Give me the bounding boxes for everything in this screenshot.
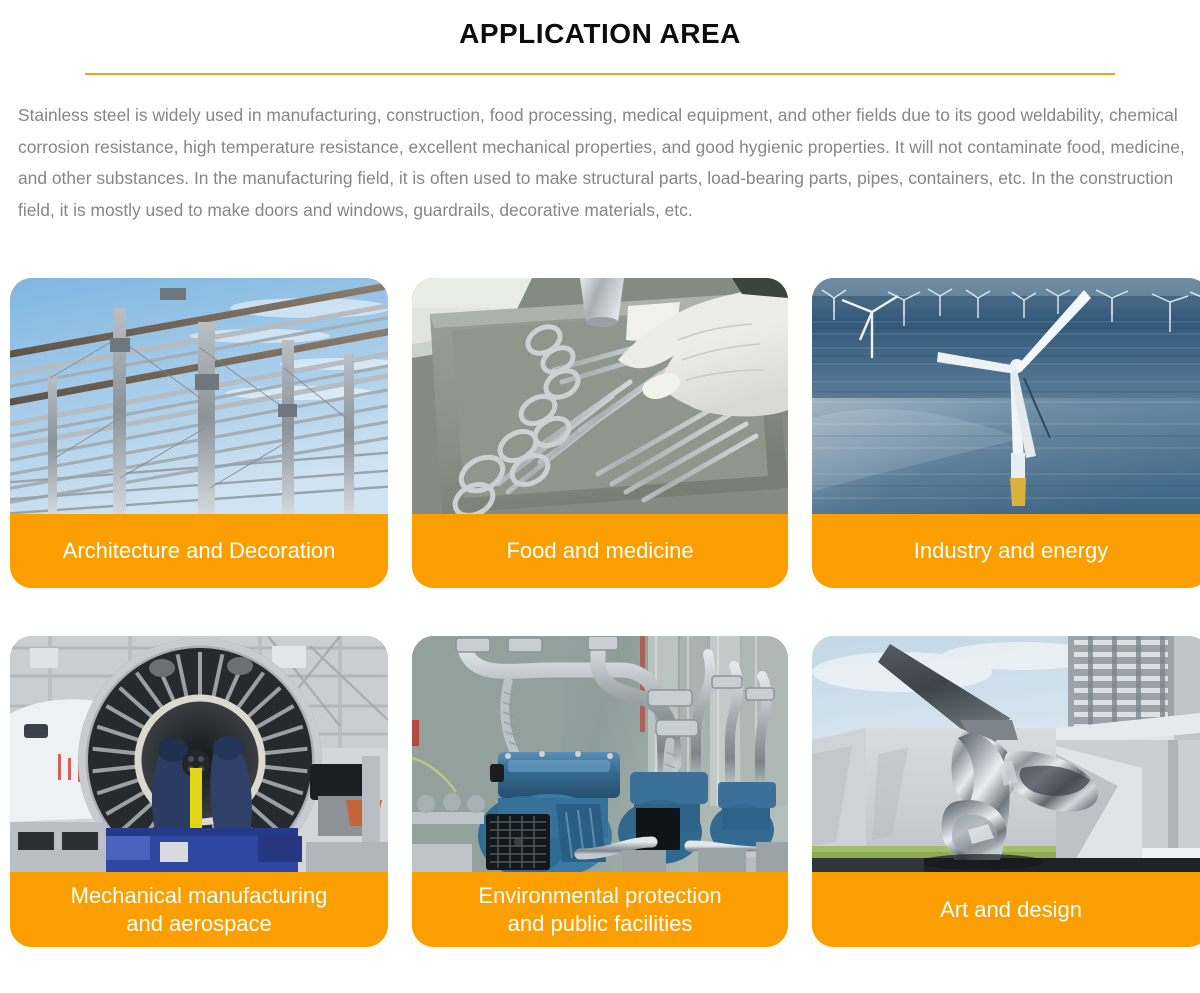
card-caption: Environmental protection and public faci… <box>412 872 788 947</box>
page-title: APPLICATION AREA <box>0 18 1200 50</box>
card-caption: Industry and energy <box>812 514 1200 588</box>
application-area-page: APPLICATION AREA Stainless steel is wide… <box>0 0 1200 993</box>
jet-engine-maintenance-photo <box>10 636 388 872</box>
application-card-art-design[interactable]: Art and design <box>812 636 1200 947</box>
stainless-steel-sculpture-photo <box>812 636 1200 872</box>
application-card-architecture[interactable]: Architecture and Decoration <box>10 278 388 588</box>
application-card-industry-energy[interactable]: Industry and energy <box>812 278 1200 588</box>
application-card-mechanical-aerospace[interactable]: Mechanical manufacturing and aerospace <box>10 636 388 947</box>
card-caption: Architecture and Decoration <box>10 514 388 588</box>
surgical-instruments-tray-photo <box>412 278 788 514</box>
intro-paragraph: Stainless steel is widely used in manufa… <box>18 100 1186 226</box>
steel-frame-architecture-photo <box>10 278 388 514</box>
card-caption: Mechanical manufacturing and aerospace <box>10 872 388 947</box>
application-card-environmental[interactable]: Environmental protection and public faci… <box>412 636 788 947</box>
industrial-pumps-piping-photo <box>412 636 788 872</box>
card-caption: Art and design <box>812 872 1200 947</box>
offshore-wind-turbines-photo <box>812 278 1200 514</box>
application-card-food-medicine[interactable]: Food and medicine <box>412 278 788 588</box>
card-caption: Food and medicine <box>412 514 788 588</box>
title-divider <box>85 73 1115 75</box>
